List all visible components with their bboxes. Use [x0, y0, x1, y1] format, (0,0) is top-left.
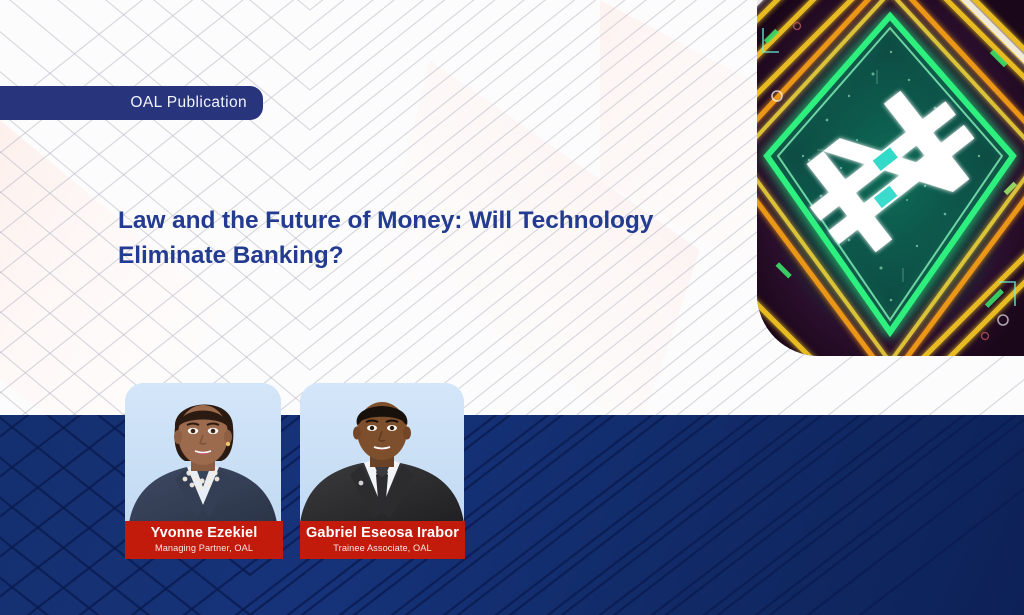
speaker-1-nameplate: Yvonne Ezekiel Managing Partner, OAL [125, 521, 283, 559]
speaker-card-1: Yvonne Ezekiel Managing Partner, OAL [125, 383, 281, 559]
hero-image-panel [757, 0, 1024, 356]
yvonne-ezekiel-portrait [125, 383, 281, 523]
speaker-1-photo-frame [125, 383, 281, 523]
speaker-2-role: Trainee Associate, OAL [333, 543, 431, 555]
speaker-card-2: Gabriel Eseosa Irabor Trainee Associate,… [300, 383, 464, 559]
publication-banner-label: OAL Publication [130, 94, 247, 112]
naira-currency-symbol-icon [757, 0, 1024, 356]
page-title: Law and the Future of Money: Will Techno… [118, 204, 738, 274]
speaker-1-name: Yvonne Ezekiel [151, 525, 258, 542]
publication-title-card: OAL Publication Law and the Future of Mo… [0, 0, 1024, 615]
speaker-2-name: Gabriel Eseosa Irabor [306, 525, 459, 542]
speaker-1-role: Managing Partner, OAL [155, 543, 253, 555]
publication-banner: OAL Publication [0, 86, 263, 120]
speaker-2-nameplate: Gabriel Eseosa Irabor Trainee Associate,… [300, 521, 465, 559]
speaker-2-photo-frame [300, 383, 464, 523]
gabriel-eseosa-irabor-portrait [300, 383, 464, 523]
